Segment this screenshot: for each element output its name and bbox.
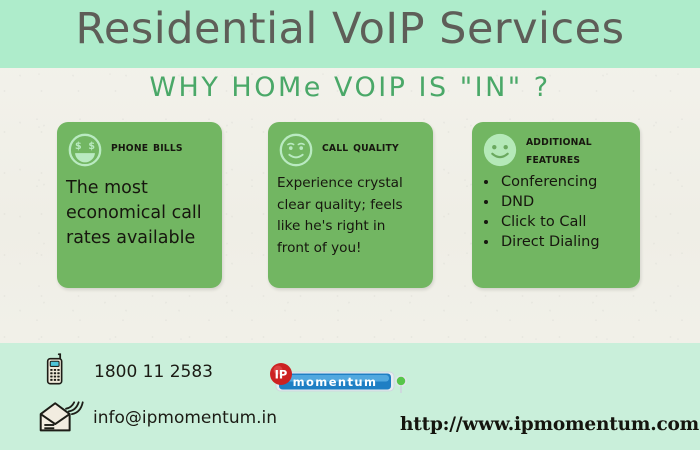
happy-face-icon: [481, 131, 519, 169]
smiley-face-icon: [277, 131, 315, 169]
card-body-text: The most economical call rates available: [66, 176, 211, 251]
card-body-text: Experience crystal clear quality; feels …: [277, 173, 422, 259]
list-item: DND: [499, 192, 629, 212]
card-header: $ $ Phone Bills: [66, 130, 211, 170]
card-additional-features[interactable]: Additional Features Conferencing DND Cli…: [472, 122, 640, 288]
list-item: Direct Dialing: [499, 232, 629, 252]
mobile-phone-icon: [44, 352, 69, 391]
card-title: Phone Bills: [111, 130, 183, 156]
card-title: Call Quality: [322, 130, 399, 156]
website-url[interactable]: http://www.ipmomentum.com: [400, 414, 699, 435]
money-face-icon: $ $: [66, 131, 104, 169]
svg-text:$: $: [75, 141, 82, 152]
email-address: info@ipmomentum.in: [93, 408, 277, 428]
envelope-signal-icon: [38, 396, 85, 439]
card-phone-bills[interactable]: $ $ Phone Bills The most economical call…: [57, 122, 222, 288]
feature-cards: $ $ Phone Bills The most economical call…: [0, 122, 700, 290]
contact-email: info@ipmomentum.in: [38, 396, 277, 439]
list-item: Conferencing: [499, 172, 629, 192]
phone-number: 1800 11 2583: [79, 362, 213, 382]
logo-word: momentum: [293, 375, 378, 389]
ipmomentum-logo[interactable]: momentum IP: [262, 362, 414, 396]
infographic-poster: Residential VoIP Services WHY HOMe VOIP …: [0, 0, 700, 450]
card-call-quality[interactable]: Call Quality Experience crystal clear qu…: [268, 122, 433, 288]
logo-badge-text: IP: [275, 368, 288, 382]
contact-phone: 1800 11 2583: [44, 352, 213, 391]
card-header: Call Quality: [277, 130, 422, 170]
card-title: Additional Features: [526, 130, 621, 168]
list-item: Click to Call: [499, 212, 629, 232]
feature-list: Conferencing DND Click to Call Direct Di…: [481, 172, 629, 252]
page-subtitle: WHY HOMe VOIP IS "IN" ?: [0, 72, 700, 103]
card-header: Additional Features: [481, 130, 629, 170]
svg-text:$: $: [88, 141, 95, 152]
page-title: Residential VoIP Services: [0, 4, 700, 54]
